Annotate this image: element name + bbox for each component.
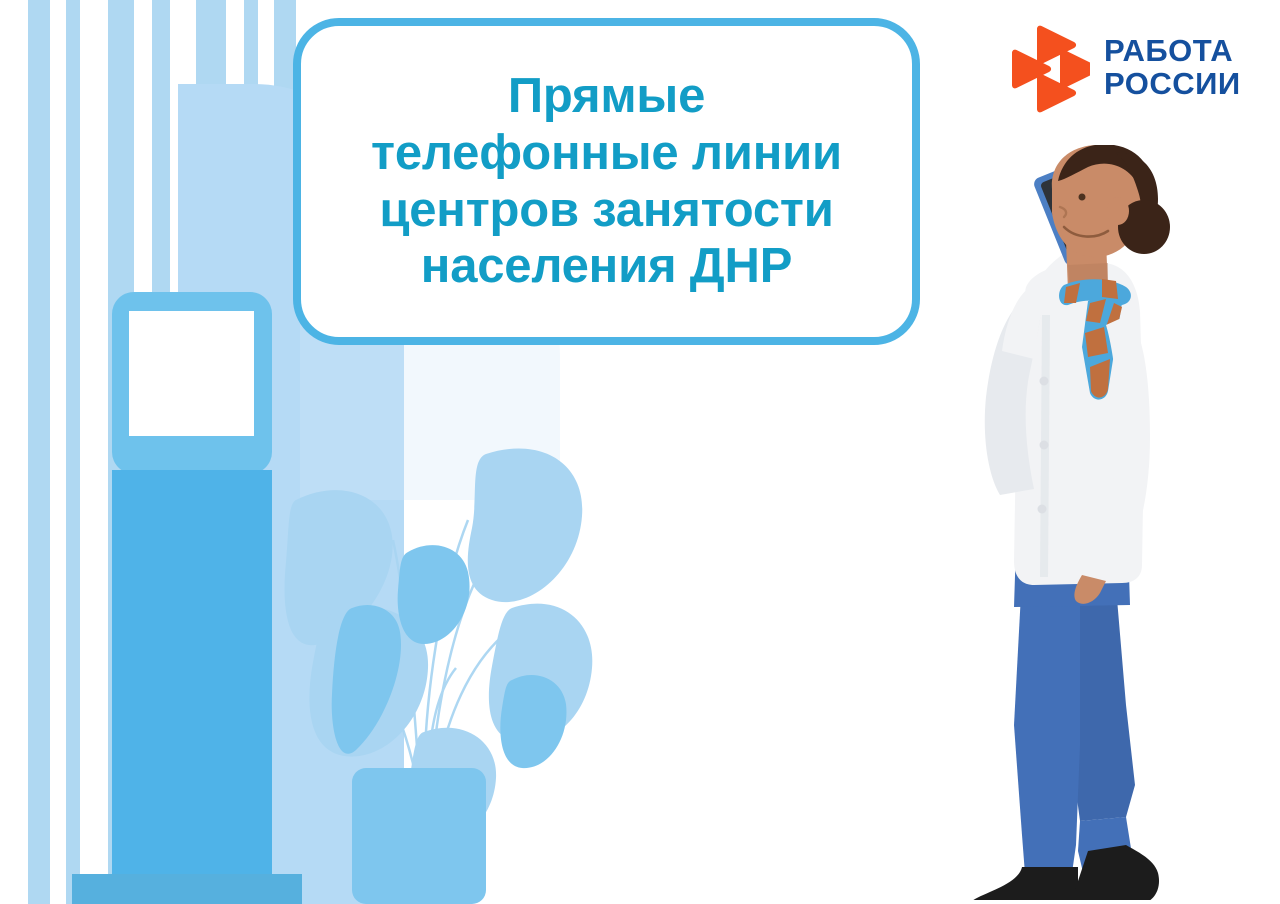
page-title: Прямые телефонные линии центров занятост… [345,68,868,295]
logo-wordmark: РАБОТА РОССИИ [1104,35,1241,101]
kiosk-base [72,874,302,904]
woman-on-phone-illustration [930,145,1210,900]
logo[interactable]: РАБОТА РОССИИ [1008,22,1266,114]
kiosk-screen [129,311,254,436]
speech-bubble: Прямые телефонные линии центров занятост… [293,18,920,345]
figure-head [1052,145,1170,257]
logo-triangles-icon [1008,22,1090,114]
figure-legs [1014,575,1135,887]
plant-pot [352,768,486,904]
poster-canvas: Прямые телефонные линии центров занятост… [0,0,1280,904]
kiosk [72,292,302,904]
